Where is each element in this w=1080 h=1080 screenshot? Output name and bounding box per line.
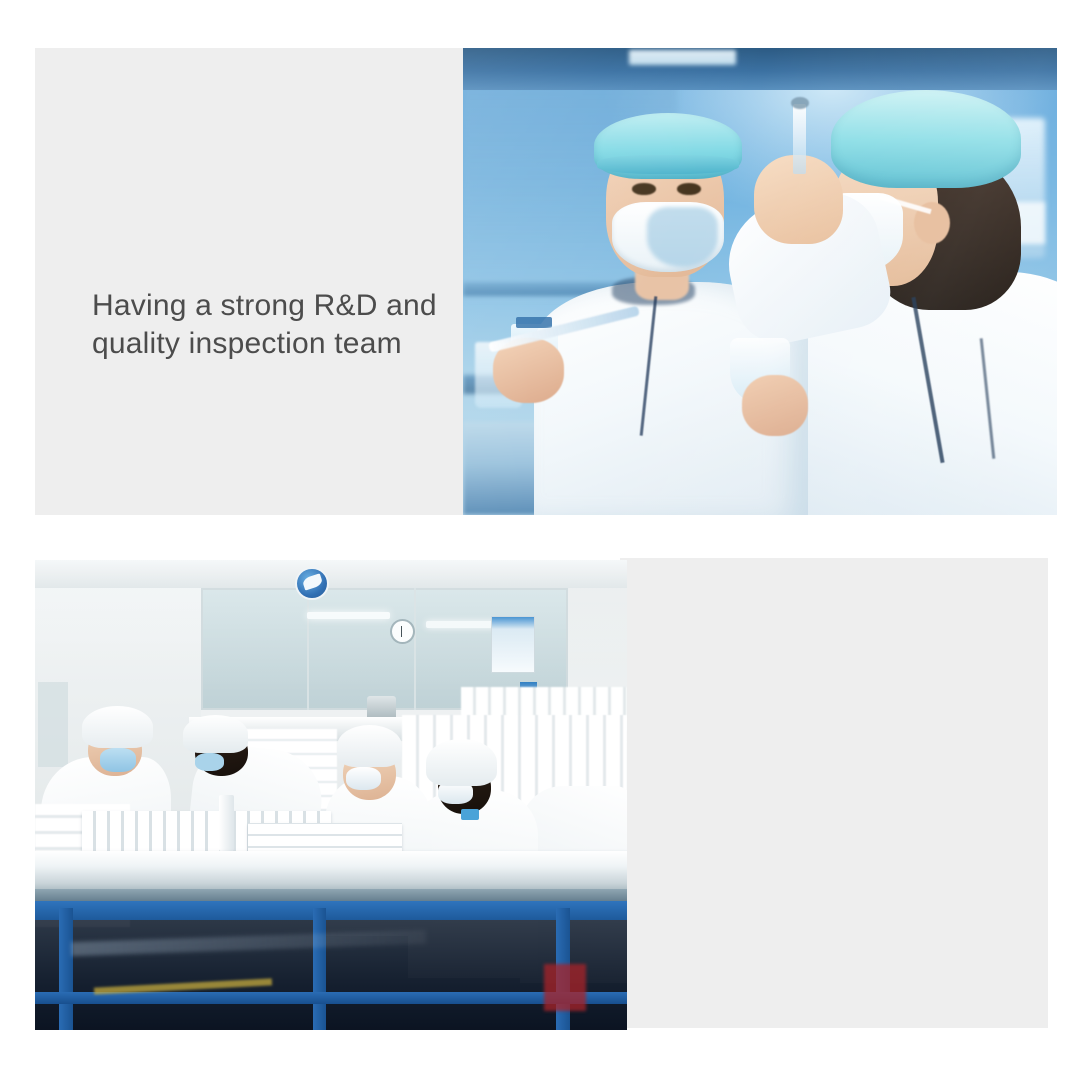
section-rnd-quality: Having a strong R&D and quality inspecti… [0,0,1080,540]
lower-hand [742,375,807,436]
poster-page: Having a strong R&D and quality inspecti… [0,0,1080,1080]
caption-panel-top: Having a strong R&D and quality inspecti… [35,48,467,515]
packer-3-face-mask [346,767,382,791]
packer-2-face-mask [195,753,225,772]
red-item-under-table [544,964,585,1011]
warehouse-wall-panel [38,682,68,767]
blue-table-frame-top [35,901,627,921]
blue-table-leg-2 [313,908,326,1030]
lab-scene [463,48,1057,515]
warehouse-ceiling [35,560,627,588]
packer-2-hairnet [183,715,248,753]
blue-lid-item [461,809,479,820]
worker-left-hairnet-band [597,155,740,174]
lab-ceiling [463,48,1057,90]
sample-vial-tip [791,97,809,109]
reagent-bottle-cap [516,317,552,329]
wall-clock-icon [390,619,415,644]
wall-clock-hand [401,626,402,637]
caption-line-1: Having a strong R&D and [92,287,492,325]
ceiling-light-tube-2 [426,621,497,628]
worker-left-eye-left [632,183,656,194]
worker-left-eye-right [677,183,701,194]
stainless-table-top [35,851,627,893]
ceiling-light-tube-1 [307,612,390,620]
warehouse-scene [35,560,627,1030]
packer-3-hairnet [337,725,402,767]
section-warehouse-areas: a warehouse distribution area a warehous… [0,540,1080,1080]
packer-4-hairnet [426,739,497,786]
caption-line-2: quality inspection team [92,325,492,363]
product-tube [219,795,234,851]
cleanroom-window-mullion-2 [414,588,416,710]
packer-1-hairnet [82,706,153,748]
sample-vial [793,104,807,174]
lab-ceiling-light [629,50,736,65]
blue-table-leg-1 [59,908,73,1030]
worker-left-mask-shadow [647,207,718,268]
caption-rnd-quality: Having a strong R&D and quality inspecti… [92,287,492,364]
lab-quality-inspection-photo [463,48,1057,515]
cleanroom-window-mullion-1 [307,588,309,710]
caption-panel-bottom: a warehouse distribution area a warehous… [620,558,1048,1028]
wall-notice-board [491,616,535,672]
blue-table-rail [35,992,627,1003]
worker-right-hairnet [831,90,1021,188]
packer-1-face-mask [100,748,136,772]
warehouse-packing-photo [35,560,627,1030]
